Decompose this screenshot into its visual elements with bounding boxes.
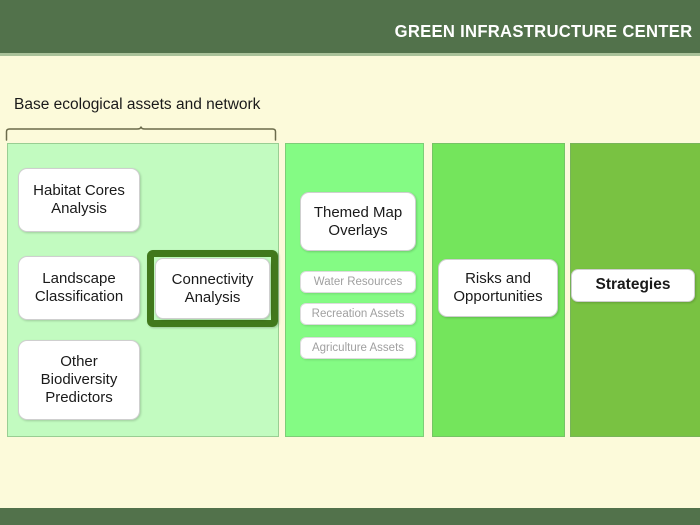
card-line-2: Analysis: [33, 200, 125, 218]
card-label: Themed Map Overlays: [314, 204, 402, 239]
card-line-3: Predictors: [41, 389, 118, 407]
card-label: Habitat Cores Analysis: [33, 182, 125, 217]
sub-card-water-resources[interactable]: Water Resources: [300, 271, 416, 293]
card-other-biodiversity-predictors[interactable]: Other Biodiversity Predictors: [18, 340, 140, 420]
card-label: Other Biodiversity Predictors: [41, 353, 118, 406]
card-line-2: Opportunities: [453, 288, 542, 306]
card-label: Risks and Opportunities: [453, 270, 542, 305]
header-divider: [0, 53, 700, 56]
card-landscape-classification[interactable]: Landscape Classification: [18, 256, 140, 320]
card-line-2: Biodiversity: [41, 371, 118, 389]
sub-card-label: Agriculture Assets: [312, 342, 404, 354]
card-habitat-cores-analysis[interactable]: Habitat Cores Analysis: [18, 168, 140, 232]
card-connectivity-analysis[interactable]: Connectivity Analysis: [155, 258, 270, 319]
card-label: Landscape Classification: [35, 270, 123, 305]
bracket-caption: Base ecological assets and network: [14, 96, 260, 114]
page-title: GREEN INFRASTRUCTURE CENTER: [394, 21, 692, 42]
card-line-2: Overlays: [314, 222, 402, 240]
card-line-1: Landscape: [35, 270, 123, 288]
card-label: Connectivity Analysis: [172, 271, 254, 306]
card-line-1: Risks and: [453, 270, 542, 288]
card-line-2: Classification: [35, 288, 123, 306]
card-line-2: Analysis: [172, 289, 254, 307]
footer-bar: [0, 508, 700, 525]
sub-card-recreation-assets[interactable]: Recreation Assets: [300, 303, 416, 325]
card-line-1: Connectivity: [172, 271, 254, 289]
bracket-icon: [5, 126, 277, 141]
sub-card-label: Water Resources: [314, 276, 402, 288]
card-line-1: Themed Map: [314, 204, 402, 222]
card-line-1: Strategies: [596, 276, 671, 294]
card-strategies[interactable]: Strategies: [571, 269, 695, 302]
sub-card-label: Recreation Assets: [312, 308, 405, 320]
card-line-1: Other: [41, 353, 118, 371]
card-line-1: Habitat Cores: [33, 182, 125, 200]
card-themed-map-overlays[interactable]: Themed Map Overlays: [300, 192, 416, 251]
header-bar: GREEN INFRASTRUCTURE CENTER: [0, 0, 700, 53]
sub-card-agriculture-assets[interactable]: Agriculture Assets: [300, 337, 416, 359]
card-risks-and-opportunities[interactable]: Risks and Opportunities: [438, 259, 558, 317]
